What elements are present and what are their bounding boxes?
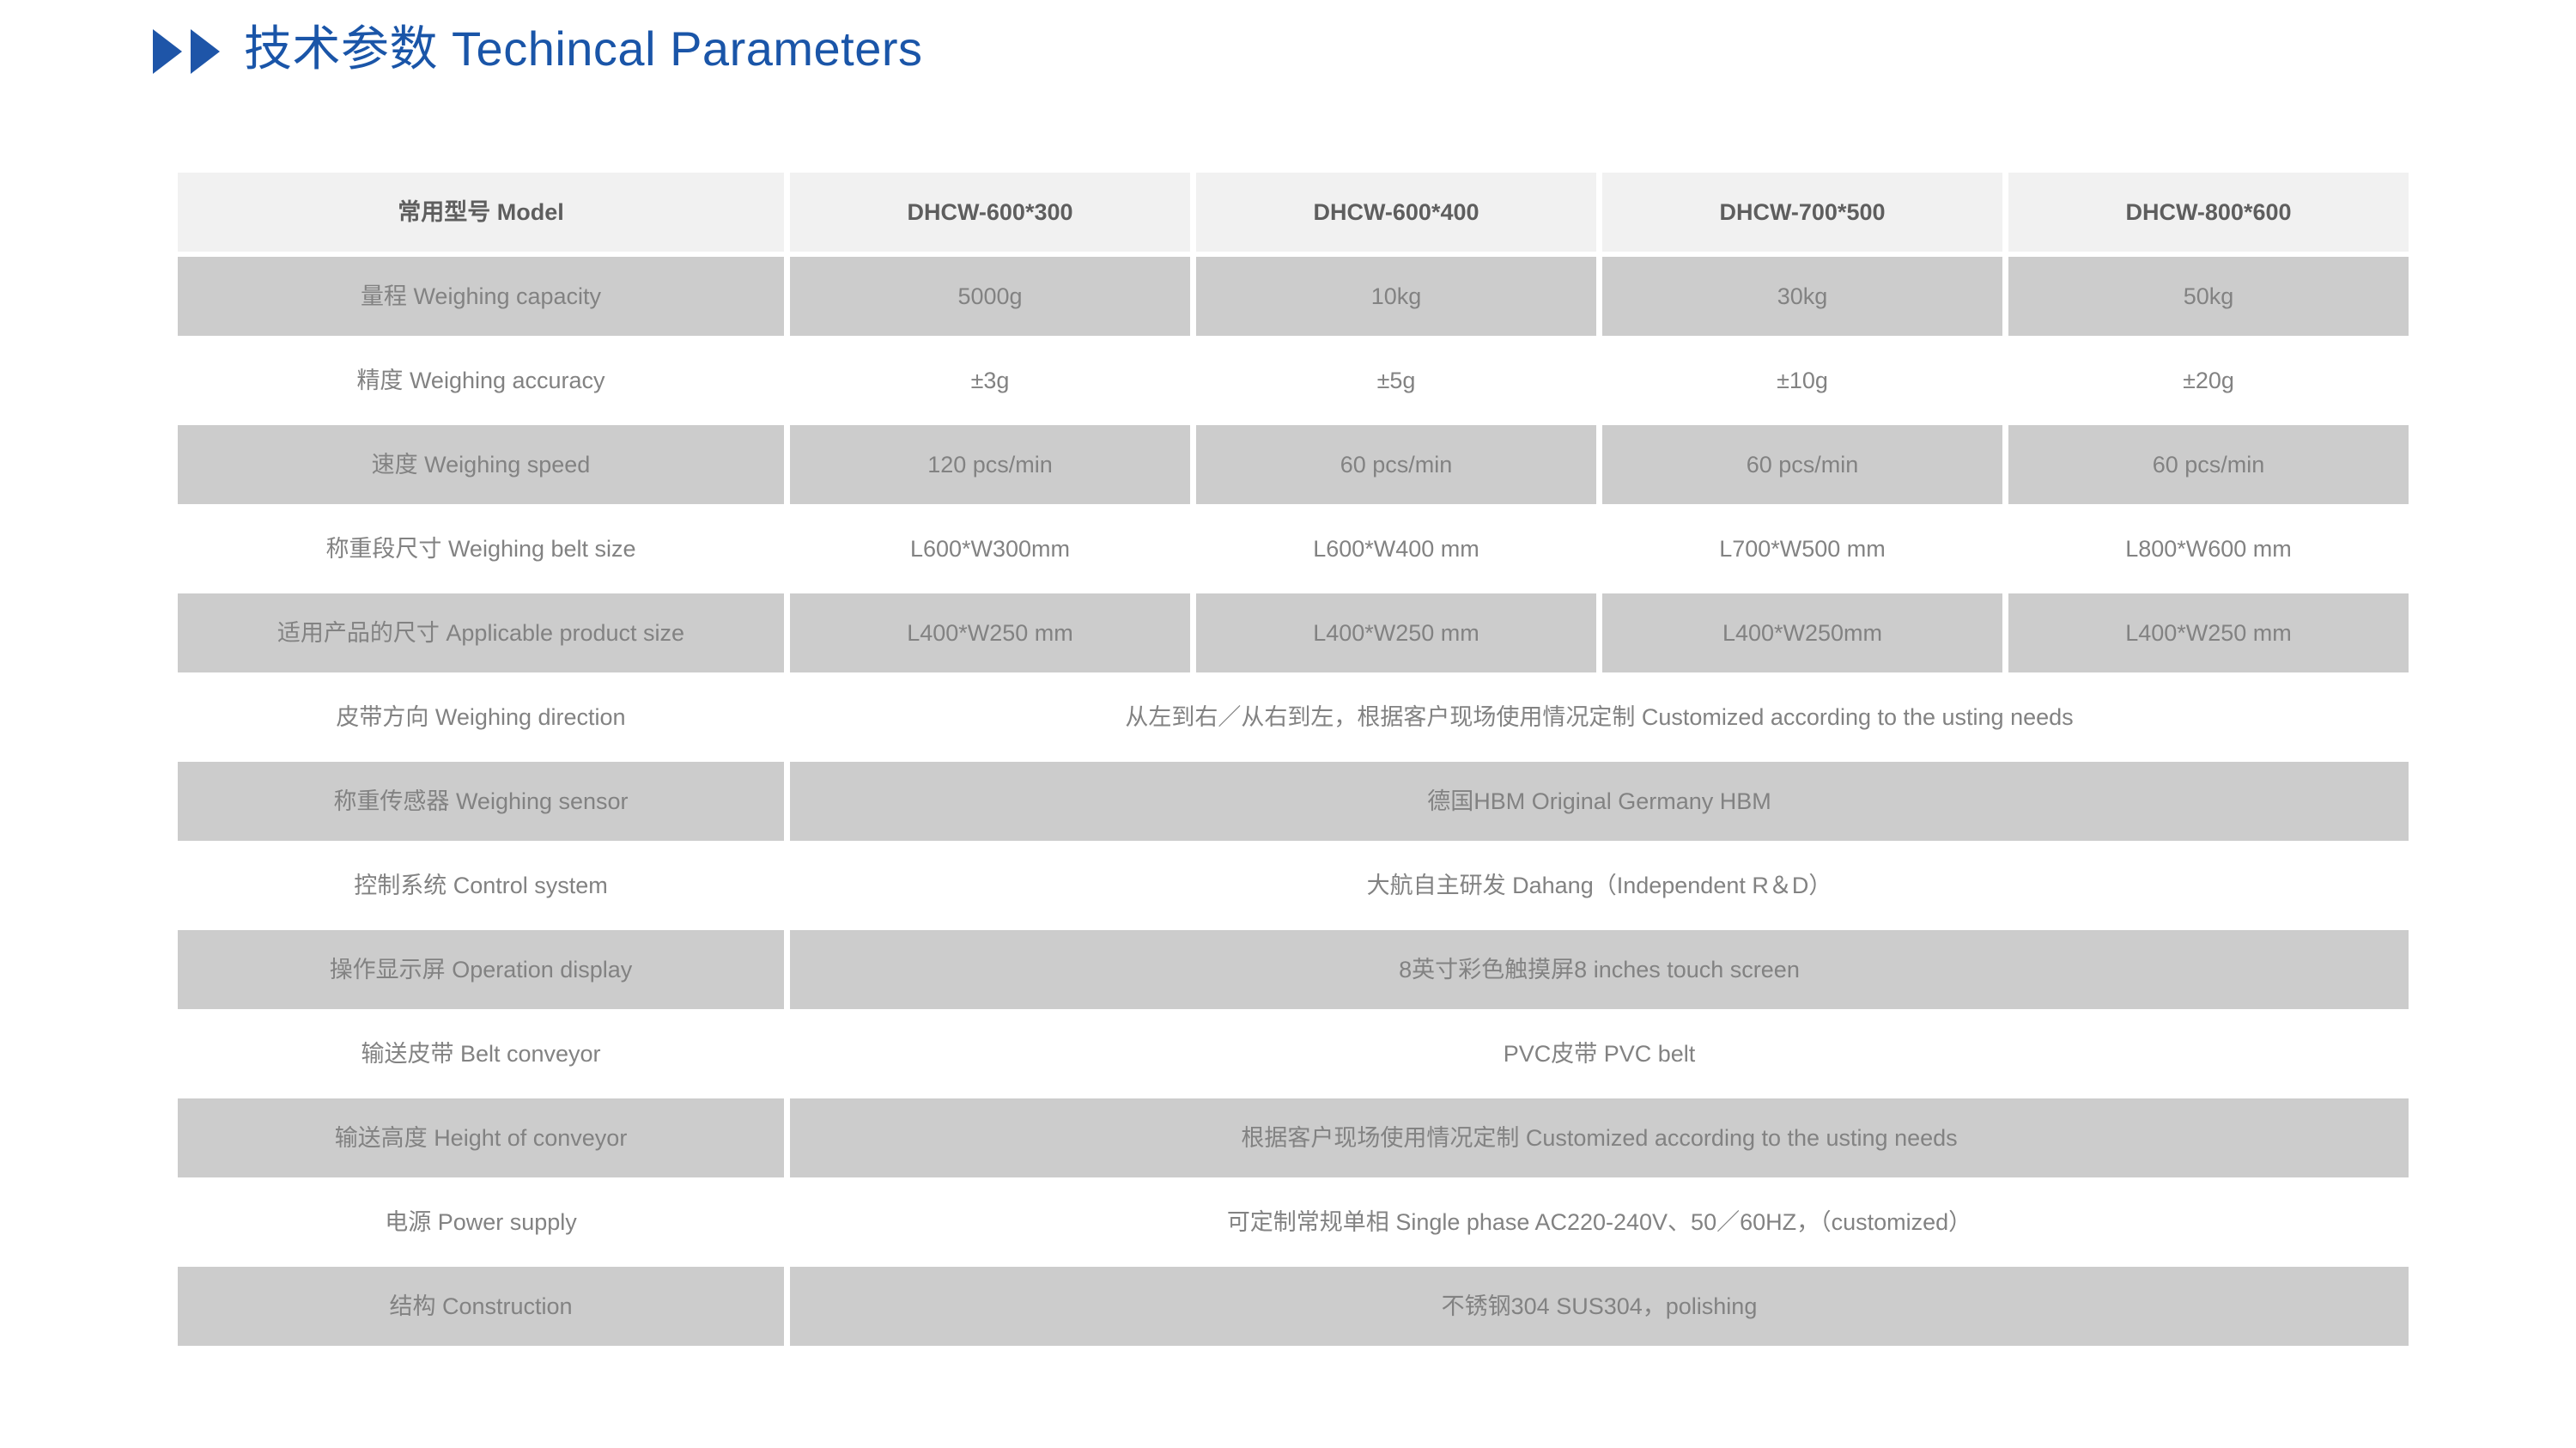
row-value-cell: L400*W250mm: [1602, 593, 2002, 672]
row-label: 量程 Weighing capacity: [178, 257, 784, 336]
row-label: 结构 Construction: [178, 1267, 784, 1346]
row-value-cell: 120 pcs/min: [790, 425, 1190, 504]
table-row: 称重传感器 Weighing sensor德国HBM Original Germ…: [178, 762, 2409, 841]
table-head: 常用型号 ModelDHCW-600*300DHCW-600*400DHCW-7…: [178, 173, 2409, 252]
row-value-cell: L400*W250 mm: [1196, 593, 1596, 672]
row-label: 皮带方向 Weighing direction: [178, 678, 784, 757]
table-row: 速度 Weighing speed120 pcs/min60 pcs/min60…: [178, 425, 2409, 504]
column-header-model-label: 常用型号 Model: [178, 173, 784, 252]
row-value-cell: ±3g: [790, 341, 1190, 420]
table-row: 称重段尺寸 Weighing belt sizeL600*W300mmL600*…: [178, 509, 2409, 588]
row-value-cell: L600*W300mm: [790, 509, 1190, 588]
row-label: 操作显示屏 Operation display: [178, 930, 784, 1009]
row-label: 电源 Power supply: [178, 1183, 784, 1262]
page-title-block: 技术参数 Techincal Parameters: [153, 24, 923, 75]
table-header-row: 常用型号 ModelDHCW-600*300DHCW-600*400DHCW-7…: [178, 173, 2409, 252]
row-value-cell: 50kg: [2008, 257, 2409, 336]
table-row: 操作显示屏 Operation display8英寸彩色触摸屏8 inches …: [178, 930, 2409, 1009]
row-value-cell: 5000g: [790, 257, 1190, 336]
row-value-merged: 不锈钢304 SUS304，polishing: [790, 1267, 2409, 1346]
row-label: 适用产品的尺寸 Applicable product size: [178, 593, 784, 672]
table-row: 精度 Weighing accuracy±3g±5g±10g±20g: [178, 341, 2409, 420]
row-value-cell: ±20g: [2008, 341, 2409, 420]
page-title: 技术参数 Techincal Parameters: [244, 24, 923, 75]
row-value-cell: 60 pcs/min: [1196, 425, 1596, 504]
row-value-cell: ±10g: [1602, 341, 2002, 420]
table-row: 输送皮带 Belt conveyorPVC皮带 PVC belt: [178, 1014, 2409, 1093]
column-header-model-3: DHCW-700*500: [1602, 173, 2002, 252]
row-value-merged: 从左到右／从右到左，根据客户现场使用情况定制 Customized accord…: [790, 678, 2409, 757]
row-value-cell: L400*W250 mm: [2008, 593, 2409, 672]
row-value-cell: 10kg: [1196, 257, 1596, 336]
row-value-merged: 大航自主研发 Dahang（Independent R＆D）: [790, 846, 2409, 925]
table-row: 适用产品的尺寸 Applicable product sizeL400*W250…: [178, 593, 2409, 672]
row-label: 输送高度 Height of conveyor: [178, 1098, 784, 1177]
row-value-merged: PVC皮带 PVC belt: [790, 1014, 2409, 1093]
row-label: 精度 Weighing accuracy: [178, 341, 784, 420]
row-value-merged: 可定制常规单相 Single phase AC220-240V、50／60HZ，…: [790, 1183, 2409, 1262]
table-row: 皮带方向 Weighing direction从左到右／从右到左，根据客户现场使…: [178, 678, 2409, 757]
row-value-cell: L400*W250 mm: [790, 593, 1190, 672]
row-label: 速度 Weighing speed: [178, 425, 784, 504]
row-label: 控制系统 Control system: [178, 846, 784, 925]
column-header-model-2: DHCW-600*400: [1196, 173, 1596, 252]
row-value-cell: 30kg: [1602, 257, 2002, 336]
column-header-model-1: DHCW-600*300: [790, 173, 1190, 252]
table-row: 控制系统 Control system大航自主研发 Dahang（Indepen…: [178, 846, 2409, 925]
row-label: 称重传感器 Weighing sensor: [178, 762, 784, 841]
arrow-marker-group: [153, 29, 220, 74]
row-value-cell: 60 pcs/min: [2008, 425, 2409, 504]
triangle-right-icon: [153, 29, 182, 74]
table-row: 量程 Weighing capacity5000g10kg30kg50kg: [178, 257, 2409, 336]
row-value-cell: L600*W400 mm: [1196, 509, 1596, 588]
table-row: 结构 Construction不锈钢304 SUS304，polishing: [178, 1267, 2409, 1346]
row-value-merged: 德国HBM Original Germany HBM: [790, 762, 2409, 841]
row-label: 输送皮带 Belt conveyor: [178, 1014, 784, 1093]
row-value-merged: 8英寸彩色触摸屏8 inches touch screen: [790, 930, 2409, 1009]
row-value-cell: ±5g: [1196, 341, 1596, 420]
table-body: 量程 Weighing capacity5000g10kg30kg50kg精度 …: [178, 257, 2409, 1346]
row-value-cell: 60 pcs/min: [1602, 425, 2002, 504]
row-value-cell: L700*W500 mm: [1602, 509, 2002, 588]
technical-parameters-table: 常用型号 ModelDHCW-600*300DHCW-600*400DHCW-7…: [172, 167, 2415, 1351]
row-value-cell: L800*W600 mm: [2008, 509, 2409, 588]
table-row: 输送高度 Height of conveyor根据客户现场使用情况定制 Cust…: [178, 1098, 2409, 1177]
column-header-model-4: DHCW-800*600: [2008, 173, 2409, 252]
row-value-merged: 根据客户现场使用情况定制 Customized according to the…: [790, 1098, 2409, 1177]
table-row: 电源 Power supply可定制常规单相 Single phase AC22…: [178, 1183, 2409, 1262]
triangle-right-icon: [191, 29, 220, 74]
row-label: 称重段尺寸 Weighing belt size: [178, 509, 784, 588]
